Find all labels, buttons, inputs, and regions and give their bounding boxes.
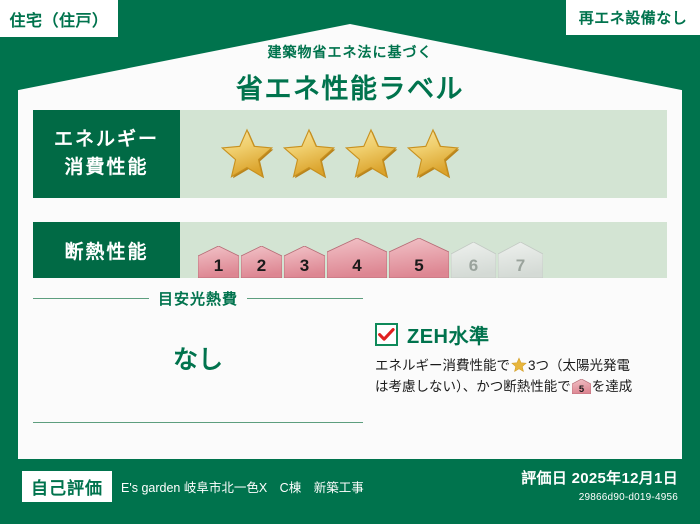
utility-cost-underline — [33, 422, 363, 423]
self-evaluation-badge: 自己評価 — [22, 471, 112, 502]
star-icon — [511, 357, 527, 373]
checkmark-icon — [378, 328, 395, 342]
utility-cost-heading-text: 目安光熱費 — [158, 288, 238, 309]
insulation-level-5: 5 — [389, 238, 449, 278]
document-id: 29866d90-d019-4956 — [521, 492, 678, 503]
utility-cost-section: 目安光熱費 なし — [33, 288, 363, 423]
star-rating — [180, 110, 667, 198]
star-icon — [282, 127, 336, 181]
badge-dwelling-type: 住宅（住戸） — [0, 0, 118, 37]
zeh-desc-part2: は考慮しない）、かつ断熱性能で — [375, 379, 571, 394]
energy-performance-label-line1: エネルギー — [54, 126, 159, 154]
title-subtitle: 建築物省エネ法に基づく — [0, 42, 700, 62]
svg-text:5: 5 — [579, 384, 585, 394]
insulation-level-7: 7 — [498, 242, 543, 278]
zeh-description: エネルギー消費性能で3つ（太陽光発電は考慮しない）、かつ断熱性能で5を達成 — [375, 356, 665, 401]
insulation-level-number: 2 — [241, 257, 282, 274]
insulation-level-6: 6 — [451, 242, 496, 278]
star-icon — [344, 127, 398, 181]
utility-cost-heading: 目安光熱費 — [33, 288, 363, 309]
insulation-level-number: 7 — [498, 257, 543, 274]
insulation-level-number: 5 — [389, 257, 449, 274]
insulation-level-number: 6 — [451, 257, 496, 274]
insulation-performance-label: 断熱性能 — [33, 222, 180, 278]
title-block: 建築物省エネ法に基づく 省エネ性能ラベル — [0, 42, 700, 106]
insulation-level-scale: 1234567 — [180, 222, 667, 278]
insulation-level-number: 3 — [284, 257, 325, 274]
insulation-performance-label-text: 断熱性能 — [64, 237, 148, 264]
energy-performance-label-line2: 消費性能 — [64, 154, 148, 182]
page-title: 省エネ性能ラベル — [0, 67, 700, 106]
zeh-desc-part3: を達成 — [592, 379, 633, 394]
insulation-level-1: 1 — [198, 246, 239, 278]
star-icon — [220, 127, 274, 181]
insulation-level-2: 2 — [241, 246, 282, 278]
zeh-title-row: ZEH水準 — [375, 320, 665, 349]
insulation-level-number: 1 — [198, 257, 239, 274]
footer-right: 評価日 2025年12月1日 29866d90-d019-4956 — [521, 467, 678, 503]
house-icon: 5 — [572, 379, 591, 394]
energy-performance-label: エネルギー 消費性能 — [33, 110, 180, 198]
zeh-checkbox — [375, 323, 398, 346]
zeh-desc-star-count: 3つ（太陽光発電 — [528, 358, 630, 373]
footer-left: 自己評価 E's garden 岐阜市北一色X C棟 新築工事 — [22, 471, 364, 502]
evaluation-date: 評価日 2025年12月1日 — [521, 467, 678, 488]
insulation-level-4: 4 — [327, 238, 387, 278]
insulation-level-icon-inline: 5 — [572, 382, 591, 397]
heading-rule-right — [247, 298, 363, 299]
heading-rule-left — [33, 298, 149, 299]
energy-performance-label: 住宅（住戸） 再エネ設備なし 建築物省エネ法に基づく 省エネ性能ラベル エネルギ… — [0, 0, 700, 524]
energy-performance-row: エネルギー 消費性能 — [33, 110, 667, 198]
insulation-level-3: 3 — [284, 246, 325, 278]
star-icon — [406, 127, 460, 181]
zeh-title: ZEH水準 — [407, 320, 490, 349]
zeh-section: ZEH水準 エネルギー消費性能で3つ（太陽光発電は考慮しない）、かつ断熱性能で5… — [375, 320, 665, 401]
zeh-desc-part1: エネルギー消費性能で — [375, 358, 510, 373]
badge-renewable-equipment: 再エネ設備なし — [566, 0, 700, 35]
insulation-level-number: 4 — [327, 257, 387, 274]
insulation-performance-row: 断熱性能 1234567 — [33, 222, 667, 278]
footer: 自己評価 E's garden 岐阜市北一色X C棟 新築工事 評価日 2025… — [0, 459, 700, 524]
building-info: E's garden 岐阜市北一色X C棟 新築工事 — [121, 477, 364, 496]
utility-cost-value: なし — [33, 340, 363, 376]
